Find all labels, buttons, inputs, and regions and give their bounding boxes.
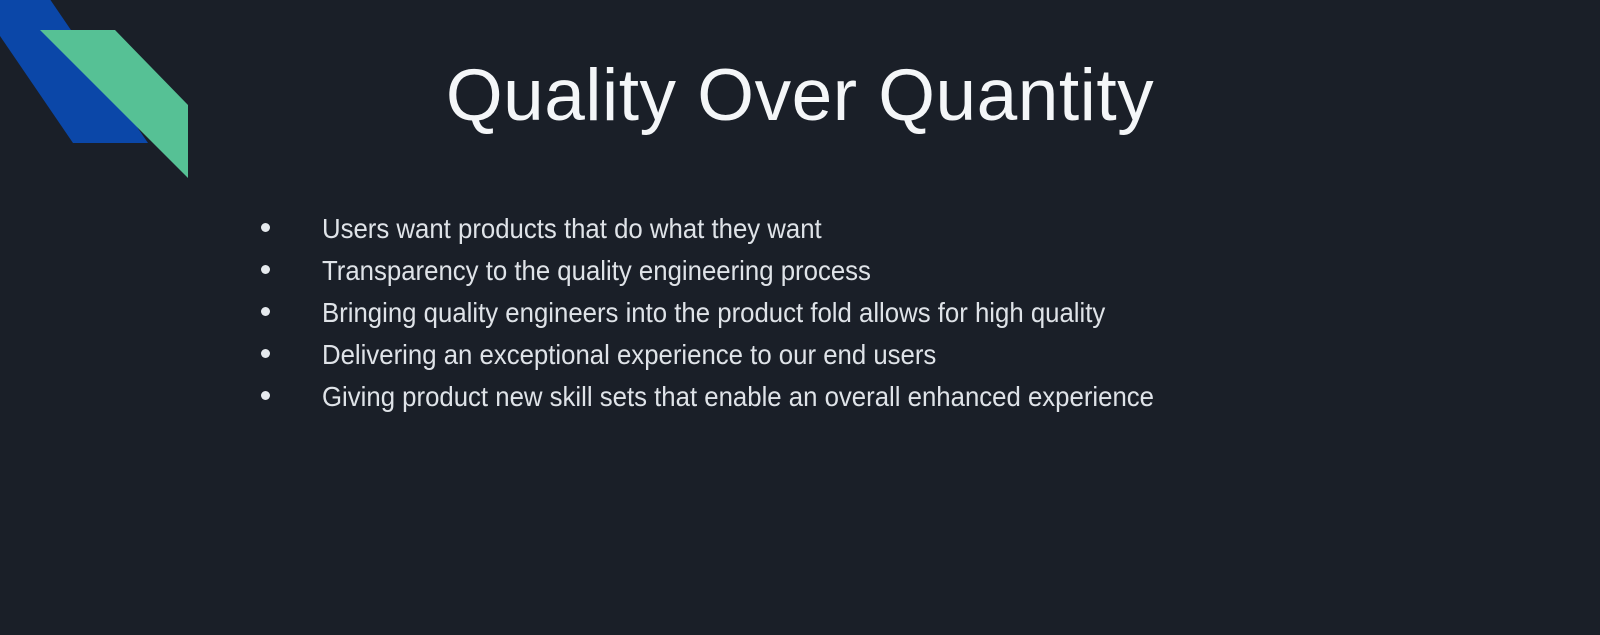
bullet-point-icon xyxy=(261,265,270,274)
page-title: Quality Over Quantity xyxy=(0,55,1600,137)
bullet-point-icon xyxy=(261,307,270,316)
bullet-list: Users want products that do what they wa… xyxy=(252,208,1452,418)
list-item-label: Users want products that do what they wa… xyxy=(322,208,1362,250)
list-item: Users want products that do what they wa… xyxy=(252,208,1452,250)
list-item-label: Delivering an exceptional experience to … xyxy=(322,334,1362,376)
list-item-label: Bringing quality engineers into the prod… xyxy=(322,292,1362,334)
list-item: Giving product new skill sets that enabl… xyxy=(252,376,1452,418)
list-item: Transparency to the quality engineering … xyxy=(252,250,1452,292)
bullet-point-icon xyxy=(261,223,270,232)
list-item-label: Giving product new skill sets that enabl… xyxy=(322,376,1362,418)
bullet-point-icon xyxy=(261,391,270,400)
list-item-label: Transparency to the quality engineering … xyxy=(322,250,1362,292)
list-item: Delivering an exceptional experience to … xyxy=(252,334,1452,376)
list-item: Bringing quality engineers into the prod… xyxy=(252,292,1452,334)
slide: Quality Over Quantity Users want product… xyxy=(0,0,1600,635)
bullet-point-icon xyxy=(261,349,270,358)
